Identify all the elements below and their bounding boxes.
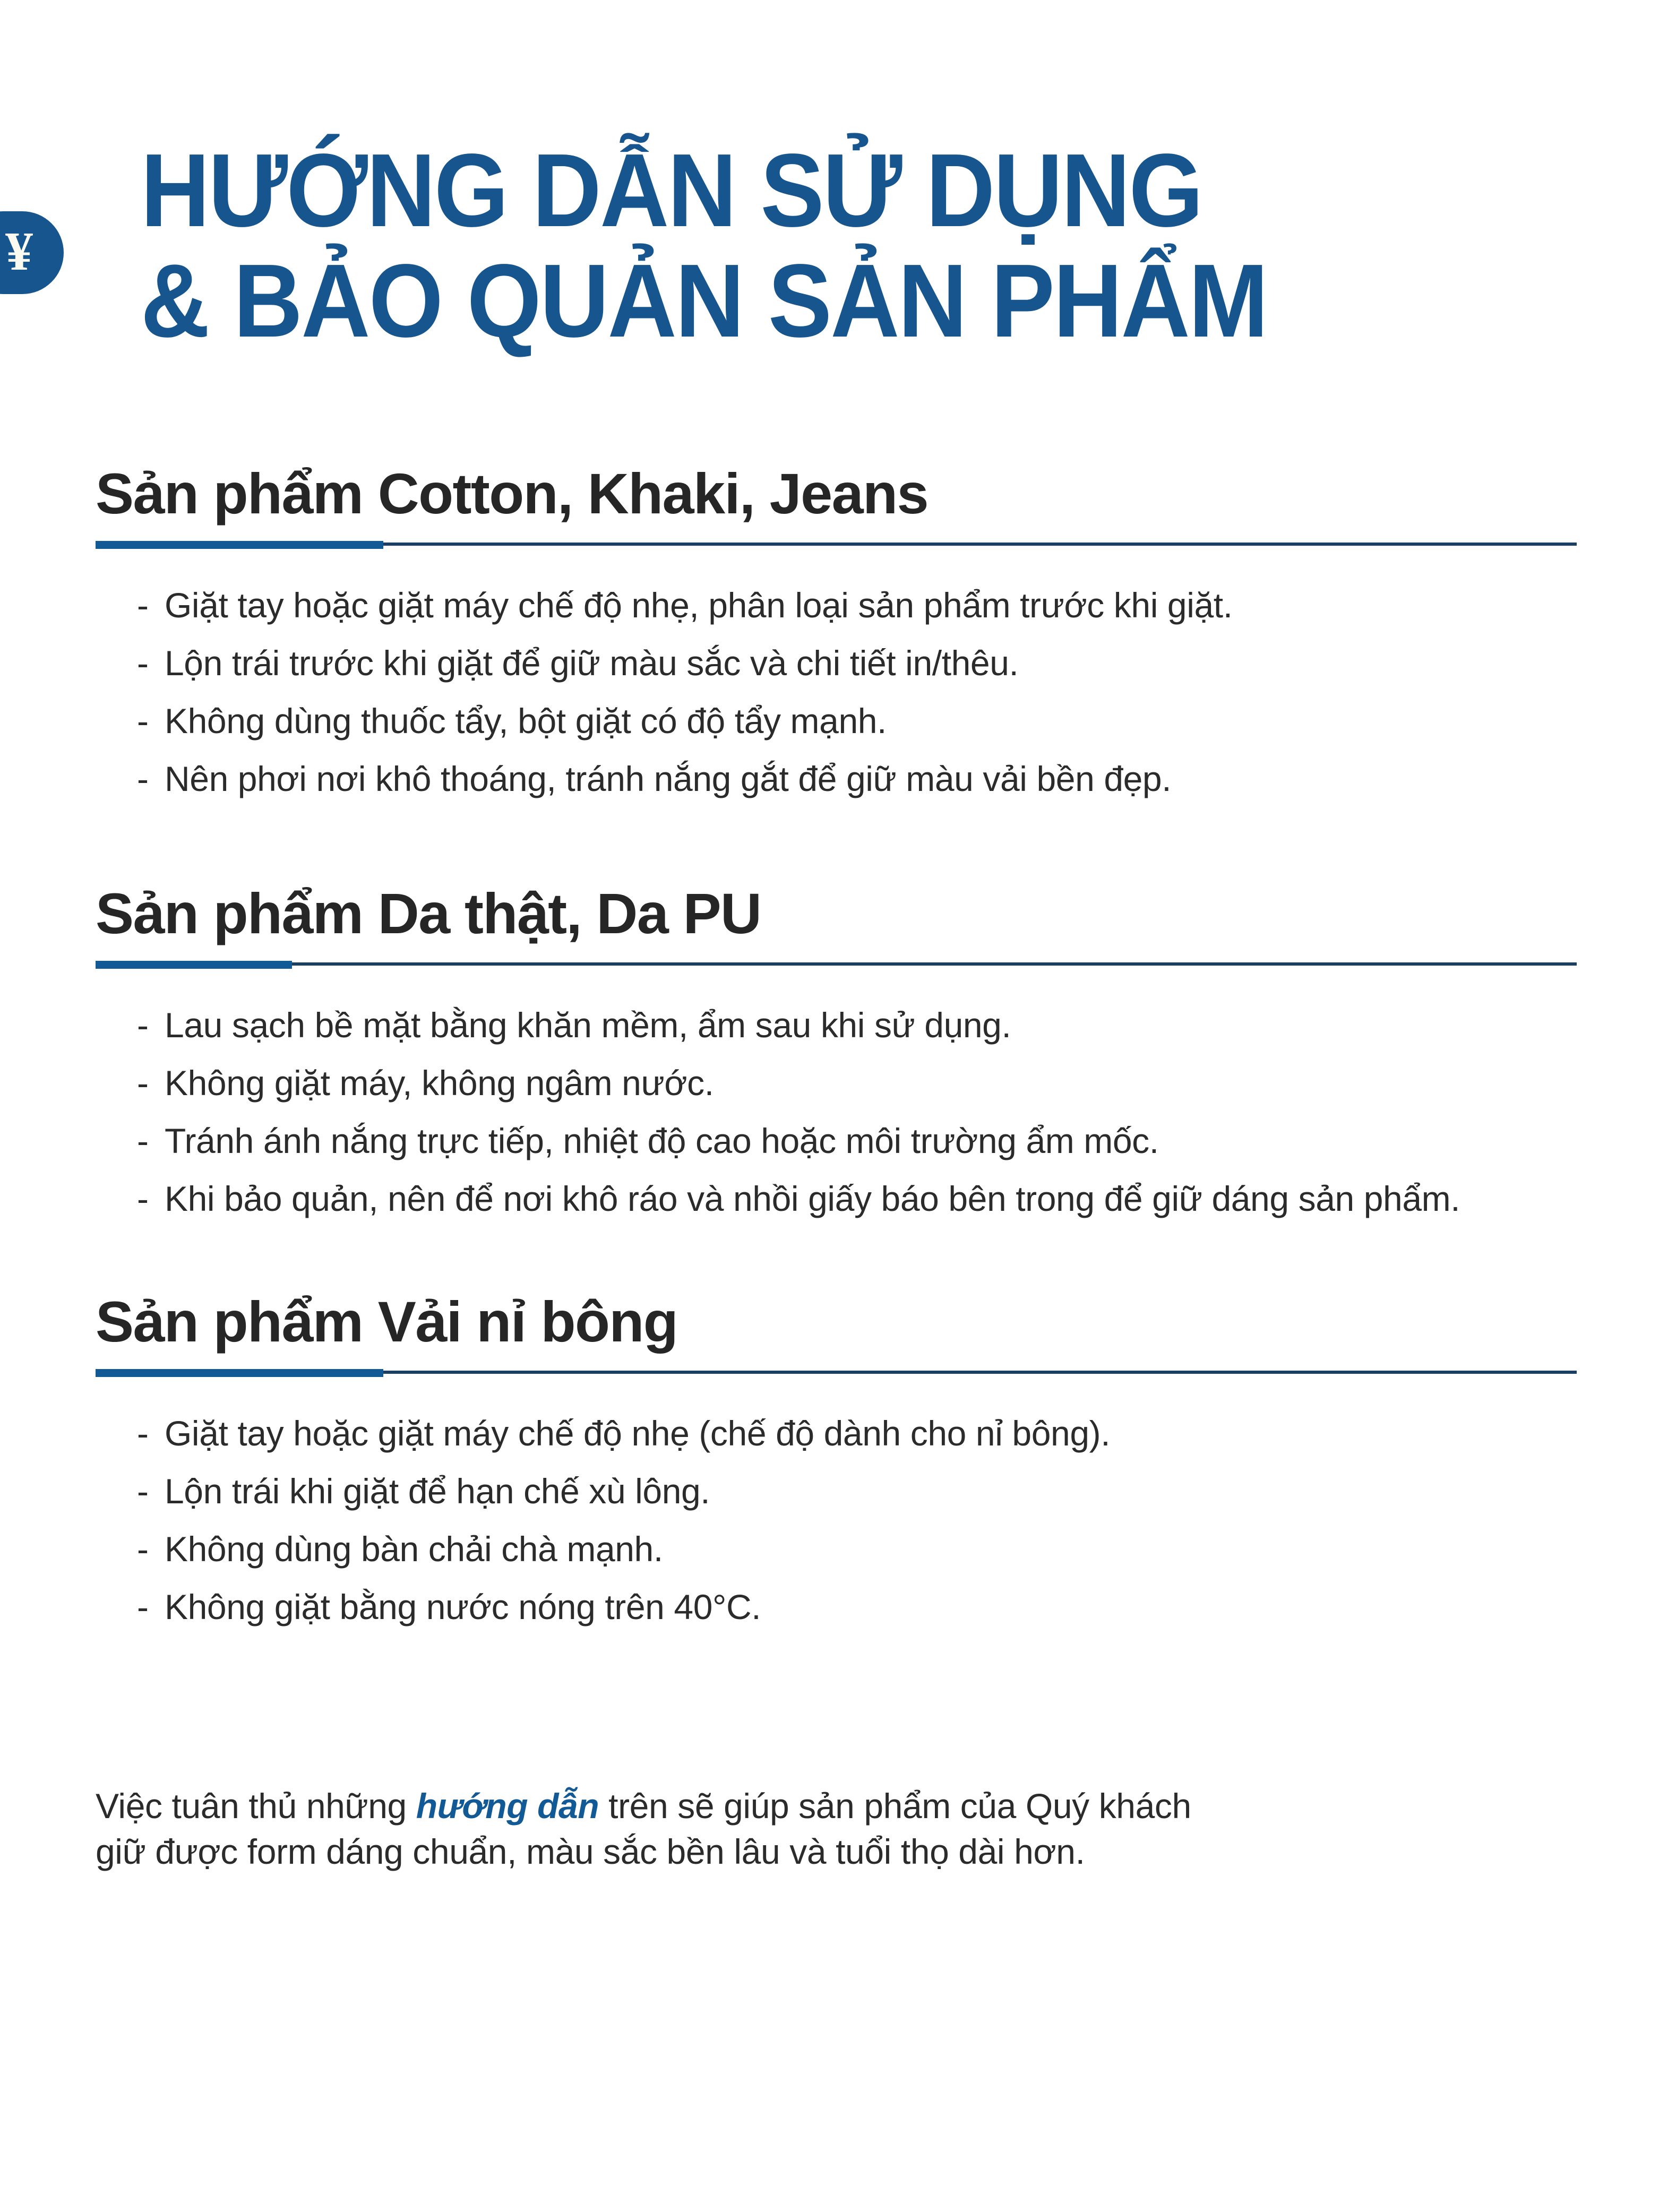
list-item-text: Không giặt bằng nước nóng trên 40°C. bbox=[165, 1589, 761, 1624]
list-item: - Lộn trái trước khi giặt để giữ màu sắc… bbox=[137, 645, 1579, 681]
divider-thin-line bbox=[96, 962, 1577, 966]
closing-note-text-after: trên sẽ giúp sản phẩm của Quý khách bbox=[599, 1786, 1191, 1826]
care-instruction-list: - Lau sạch bề mặt bằng khăn mềm, ẩm sau … bbox=[137, 1008, 1579, 1216]
divider-thick-accent bbox=[96, 541, 383, 549]
care-instruction-list: - Giặt tay hoặc giặt máy chế độ nhẹ (chế… bbox=[137, 1416, 1579, 1624]
list-item-text: Không dùng thuốc tẩy, bột giặt có độ tẩy… bbox=[165, 703, 887, 738]
list-item-text: Khi bảo quản, nên để nơi khô ráo và nhồi… bbox=[165, 1181, 1460, 1216]
list-item-text: Nên phơi nơi khô thoáng, tránh nắng gắt … bbox=[165, 761, 1171, 796]
section-heading: Sản phẩm Cotton, Khaki, Jeans bbox=[96, 462, 1579, 526]
page-title-line-1: HƯỚNG DẪN SỬ DỤNG bbox=[141, 135, 1508, 246]
list-item: - Không giặt máy, không ngâm nước. bbox=[137, 1065, 1579, 1100]
list-item: - Giặt tay hoặc giặt máy chế độ nhẹ (chế… bbox=[137, 1416, 1579, 1451]
section-cotton-khaki-jeans: Sản phẩm Cotton, Khaki, Jeans - Giặt tay… bbox=[96, 462, 1579, 796]
divider-thick-accent bbox=[96, 1369, 383, 1377]
section-divider bbox=[96, 1368, 1579, 1376]
list-item: - Không dùng thuốc tẩy, bột giặt có độ t… bbox=[137, 703, 1579, 738]
section-divider bbox=[96, 540, 1579, 548]
section-spacer bbox=[96, 819, 1579, 882]
closing-note-text-before: Việc tuân thủ những bbox=[96, 1786, 416, 1826]
list-item: - Giặt tay hoặc giặt máy chế độ nhẹ, phâ… bbox=[137, 588, 1579, 623]
list-item: - Khi bảo quản, nên để nơi khô ráo và nh… bbox=[137, 1181, 1579, 1216]
section-heading: Sản phẩm Vải nỉ bông bbox=[96, 1290, 1579, 1354]
section-spacer bbox=[96, 1239, 1579, 1290]
list-item: - Lộn trái khi giặt để hạn chế xù lông. bbox=[137, 1474, 1579, 1509]
bullet-marker: - bbox=[137, 1531, 165, 1567]
section-genuine-leather-pu: Sản phẩm Da thật, Da PU - Lau sạch bề mặ… bbox=[96, 882, 1579, 1216]
bullet-marker: - bbox=[137, 1123, 165, 1158]
closing-note: Việc tuân thủ những hướng dẫn trên sẽ gi… bbox=[0, 1784, 1659, 1875]
list-item-text: Tránh ánh nắng trực tiếp, nhiệt độ cao h… bbox=[165, 1123, 1159, 1158]
list-item-text: Lau sạch bề mặt bằng khăn mềm, ẩm sau kh… bbox=[165, 1008, 1011, 1043]
care-guide-content: Sản phẩm Cotton, Khaki, Jeans - Giặt tay… bbox=[0, 462, 1659, 1624]
bullet-marker: - bbox=[137, 1589, 165, 1624]
list-item: - Nên phơi nơi khô thoáng, tránh nắng gắ… bbox=[137, 761, 1579, 796]
list-item: - Không dùng bàn chải chà mạnh. bbox=[137, 1531, 1579, 1567]
care-instruction-list: - Giặt tay hoặc giặt máy chế độ nhẹ, phâ… bbox=[137, 588, 1579, 796]
document-header: ¥ HƯỚNG DẪN SỬ DỤNG & BẢO QUẢN SẢN PHẨM bbox=[0, 0, 1659, 462]
list-item-text: Không dùng bàn chải chà mạnh. bbox=[165, 1531, 663, 1567]
page-title: HƯỚNG DẪN SỬ DỤNG & BẢO QUẢN SẢN PHẨM bbox=[0, 135, 1659, 356]
bullet-marker: - bbox=[137, 1181, 165, 1216]
bullet-marker: - bbox=[137, 588, 165, 623]
section-divider bbox=[96, 960, 1579, 968]
list-item-text: Giặt tay hoặc giặt máy chế độ nhẹ, phân … bbox=[165, 588, 1233, 623]
bullet-marker: - bbox=[137, 1416, 165, 1451]
list-item: - Lau sạch bề mặt bằng khăn mềm, ẩm sau … bbox=[137, 1008, 1579, 1043]
bullet-marker: - bbox=[137, 1474, 165, 1509]
section-heading: Sản phẩm Da thật, Da PU bbox=[96, 882, 1579, 946]
page-title-line-2: & BẢO QUẢN SẢN PHẨM bbox=[141, 246, 1508, 356]
list-item: - Tránh ánh nắng trực tiếp, nhiệt độ cao… bbox=[137, 1123, 1579, 1158]
yen-icon: ¥ bbox=[5, 224, 32, 279]
bullet-marker: - bbox=[137, 761, 165, 796]
list-item-text: Không giặt máy, không ngâm nước. bbox=[165, 1065, 714, 1100]
bullet-marker: - bbox=[137, 1065, 165, 1100]
bullet-marker: - bbox=[137, 703, 165, 738]
list-item-text: Giặt tay hoặc giặt máy chế độ nhẹ (chế đ… bbox=[165, 1416, 1110, 1451]
list-item-text: Lộn trái khi giặt để hạn chế xù lông. bbox=[165, 1474, 710, 1509]
divider-thick-accent bbox=[96, 961, 292, 969]
closing-note-line-2: giữ được form dáng chuẩn, màu sắc bền lâ… bbox=[96, 1829, 1579, 1875]
list-item: - Không giặt bằng nước nóng trên 40°C. bbox=[137, 1589, 1579, 1624]
bullet-marker: - bbox=[137, 1008, 165, 1043]
list-item-text: Lộn trái trước khi giặt để giữ màu sắc v… bbox=[165, 645, 1018, 681]
bullet-marker: - bbox=[137, 645, 165, 681]
section-fleece-fabric: Sản phẩm Vải nỉ bông - Giặt tay hoặc giặ… bbox=[96, 1290, 1579, 1624]
closing-note-emphasis: hướng dẫn bbox=[416, 1786, 599, 1826]
closing-note-line-1: Việc tuân thủ những hướng dẫn trên sẽ gi… bbox=[96, 1784, 1579, 1829]
